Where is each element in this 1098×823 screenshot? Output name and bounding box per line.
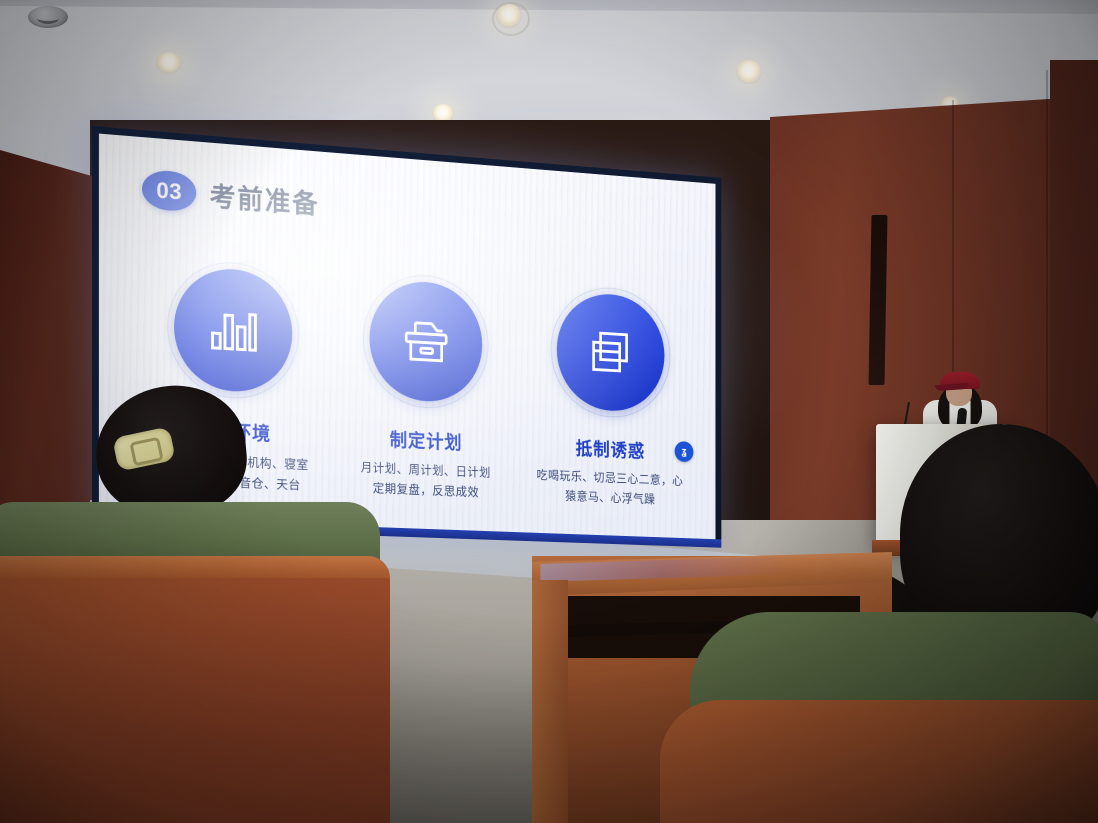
lecture-hall-photo: 03 考前准备	[0, 0, 1098, 823]
slide-watermark-badge: ʓ	[675, 441, 694, 462]
bar-chart-icon	[209, 307, 257, 353]
page-title: 考前准备	[210, 175, 320, 221]
slide-header: 03 考前准备	[142, 169, 319, 222]
archive-box-icon	[403, 316, 450, 367]
chair-wood-edge	[0, 556, 390, 578]
smoke-detector-icon	[28, 6, 68, 28]
icon-circle	[556, 291, 664, 414]
card-item: 制定计划 月计划、周计划、日计划 定期复盘，反思成效	[341, 270, 509, 504]
ceiling-downlight	[496, 4, 522, 28]
section-number-badge: 03	[142, 169, 196, 213]
chair-wood-shell	[660, 700, 1098, 823]
copy-layers-icon	[589, 329, 632, 377]
presenter-cap	[940, 372, 980, 389]
icon-ring	[550, 284, 670, 421]
card-title: 制定计划	[341, 423, 509, 457]
card-title: 抵制诱惑	[529, 432, 690, 465]
wall-accent-strip	[869, 215, 888, 385]
chair-wood-shell	[0, 556, 390, 823]
card-item: 抵制诱惑 吃喝玩乐、切忌三心二意，心 猿意马、心浮气躁	[529, 282, 690, 511]
ceiling-downlight	[736, 60, 762, 84]
icon-circle	[174, 265, 292, 394]
desk-leg	[532, 580, 568, 823]
icon-ring	[167, 258, 299, 401]
icon-circle	[369, 278, 482, 404]
ceiling-downlight	[156, 52, 182, 74]
icon-ring	[363, 271, 488, 411]
